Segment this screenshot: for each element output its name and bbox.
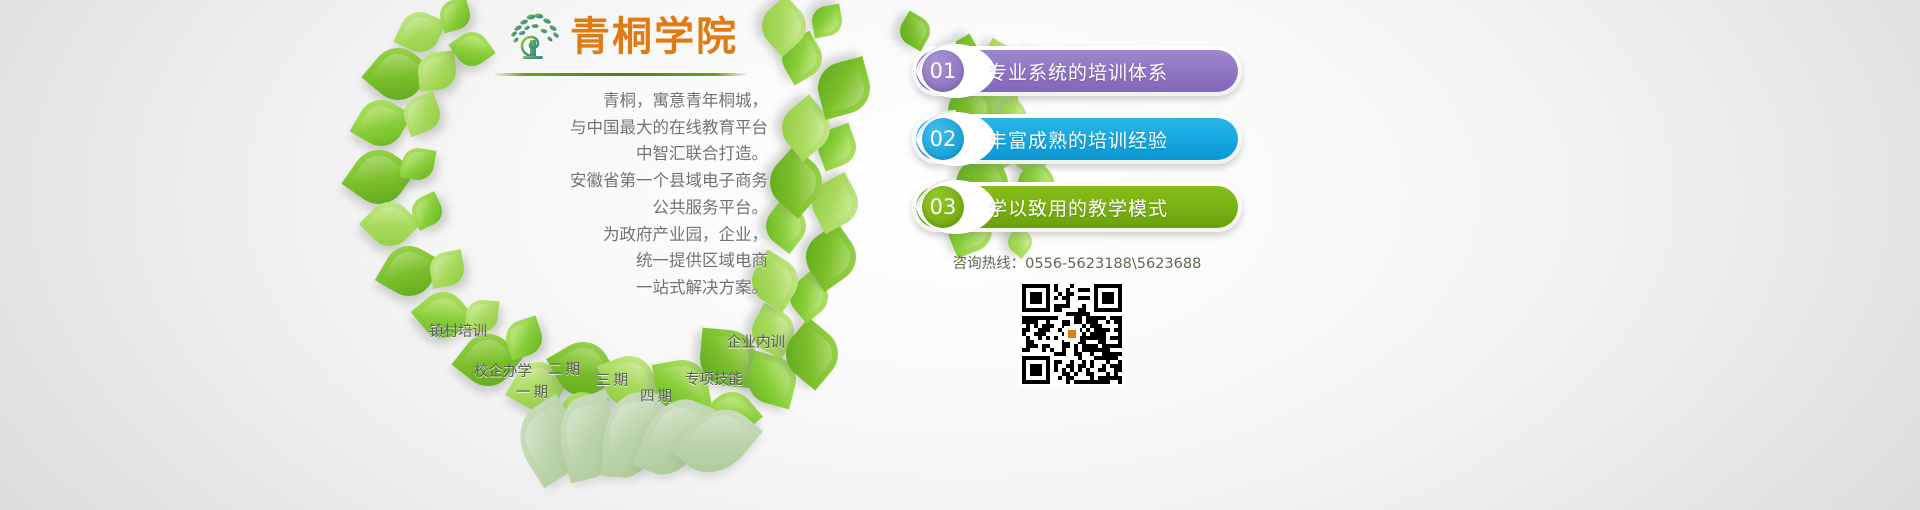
feature-item-03[interactable]: 03 学以致用的教学模式 [912, 182, 1242, 232]
feature-number: 03 [930, 195, 957, 219]
leaf [350, 92, 413, 155]
intro-line: 与中国最大的在线教育平台 [470, 115, 768, 142]
page-title: 青桐学院 [570, 17, 738, 57]
category-label-xiaoqi: 校企办学 [474, 360, 532, 381]
intro-line: 为政府产业园，企业， [470, 222, 768, 249]
intro-line: 青桐，寓意青年桐城， [470, 88, 768, 115]
feature-item-01[interactable]: 01 专业系统的培训体系 [912, 46, 1242, 96]
leaf [399, 145, 436, 182]
feature-list: 01 专业系统的培训体系 02 丰富成熟的培训经验 03 学以致用的教学模式 [912, 46, 1242, 250]
feature-label: 学以致用的教学模式 [988, 194, 1168, 221]
intro-line: 一站式解决方案。 [470, 275, 768, 302]
category-label-qiye: 企业内训 [727, 331, 785, 352]
intro-line: 公共服务平台。 [470, 195, 768, 222]
qr-code [1019, 281, 1125, 387]
category-label-zhuanxiang: 专项技能 [685, 368, 743, 389]
term-label-3: 三期 [596, 369, 631, 390]
feature-label: 专业系统的培训体系 [988, 58, 1168, 85]
feature-number-badge: 03 [922, 186, 964, 228]
feature-number: 02 [930, 127, 957, 151]
feature-label: 丰富成熟的培训经验 [988, 126, 1168, 153]
term-label-1: 一期 [516, 381, 551, 402]
leaf [810, 4, 845, 39]
leaf [416, 50, 457, 91]
category-label-zhencun: 镇村培训 [429, 320, 487, 341]
intro-text: 青桐，寓意青年桐城， 与中国最大的在线教育平台 中智汇联合打造。 安徽省第一个县… [470, 88, 770, 302]
feature-number-badge: 01 [922, 50, 964, 92]
term-label-4: 四期 [640, 385, 675, 406]
intro-line: 统一提供区域电商 [470, 248, 768, 275]
feature-item-02[interactable]: 02 丰富成熟的培训经验 [912, 114, 1242, 164]
term-label-2: 二期 [548, 358, 583, 379]
feature-number-badge: 02 [922, 118, 964, 160]
leaf [437, 0, 474, 33]
intro-line: 中智汇联合打造。 [470, 141, 768, 168]
qr-canvas [1022, 284, 1122, 384]
hotline-text: 咨询热线：0556-5623188\5623688 [912, 252, 1242, 273]
feature-number: 01 [930, 59, 957, 83]
brand-block: 青桐学院 青桐，寓意青年桐城， 与中国最大的在线教育平台 中智汇联合打造。 安徽… [470, 6, 770, 302]
tree-icon [502, 6, 564, 67]
intro-line: 安徽省第一个县域电子商务 [470, 168, 768, 195]
brand-divider [494, 73, 746, 76]
brand-row: 青桐学院 [470, 6, 770, 67]
